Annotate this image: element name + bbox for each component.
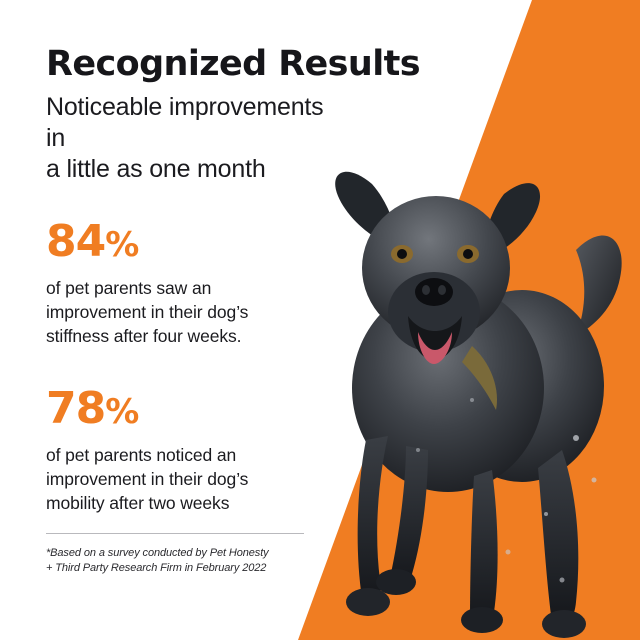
dog-nostril-right — [438, 285, 446, 295]
dog-rear-leg-left — [470, 470, 498, 627]
subhead-line-1: Noticeable improvements in — [46, 92, 346, 154]
subhead-line-2: a little as one month — [46, 154, 346, 185]
text-column: Recognized Results Noticeable improvemen… — [46, 44, 346, 515]
stat-1-value: 84% — [46, 219, 346, 268]
stat-2-number: 78 — [46, 383, 105, 434]
water-droplet — [560, 578, 565, 583]
dog-tail — [576, 235, 622, 336]
stat-block-2: 78% of pet parents noticed an improvemen… — [46, 386, 346, 515]
stat-2-line-1: of pet parents noticed an — [46, 443, 346, 467]
footnote-divider — [46, 533, 304, 534]
water-droplet — [544, 512, 548, 516]
dog-paw-front-left — [346, 588, 390, 616]
stat-block-1: 84% of pet parents saw an improvement in… — [46, 219, 346, 348]
water-droplet — [416, 448, 420, 452]
dog-pupil-right — [463, 249, 473, 259]
stat-2-unit: % — [105, 392, 139, 432]
dog-paw-front-right — [376, 569, 416, 595]
stat-2-value: 78% — [46, 386, 346, 435]
footnote-line-1: *Based on a survey conducted by Pet Hone… — [46, 546, 326, 561]
page-title: Recognized Results — [46, 44, 346, 84]
dog-pupil-left — [397, 249, 407, 259]
stat-2-line-2: improvement in their dog’s — [46, 467, 346, 491]
stat-1-line-3: stiffness after four weeks. — [46, 324, 346, 348]
stat-1-line-1: of pet parents saw an — [46, 276, 346, 300]
stat-1-unit: % — [105, 225, 139, 265]
water-droplet — [470, 398, 474, 402]
stat-2-line-3: mobility after two weeks — [46, 491, 346, 515]
footnote-section: *Based on a survey conducted by Pet Hone… — [46, 533, 326, 576]
dog-nostril-left — [422, 285, 430, 295]
water-droplet — [573, 435, 579, 441]
infographic-canvas: Recognized Results Noticeable improvemen… — [0, 0, 640, 640]
stat-1-number: 84 — [46, 216, 105, 267]
dog-paw-rear-right — [542, 610, 586, 638]
footnote-line-2: + Third Party Research Firm in February … — [46, 561, 326, 576]
dog-paw-rear-left — [461, 607, 503, 633]
stat-1-line-2: improvement in their dog’s — [46, 300, 346, 324]
dog-rear-leg-right — [538, 450, 578, 626]
water-droplet — [506, 550, 511, 555]
dog-nose — [415, 278, 453, 306]
water-droplet — [592, 478, 597, 483]
